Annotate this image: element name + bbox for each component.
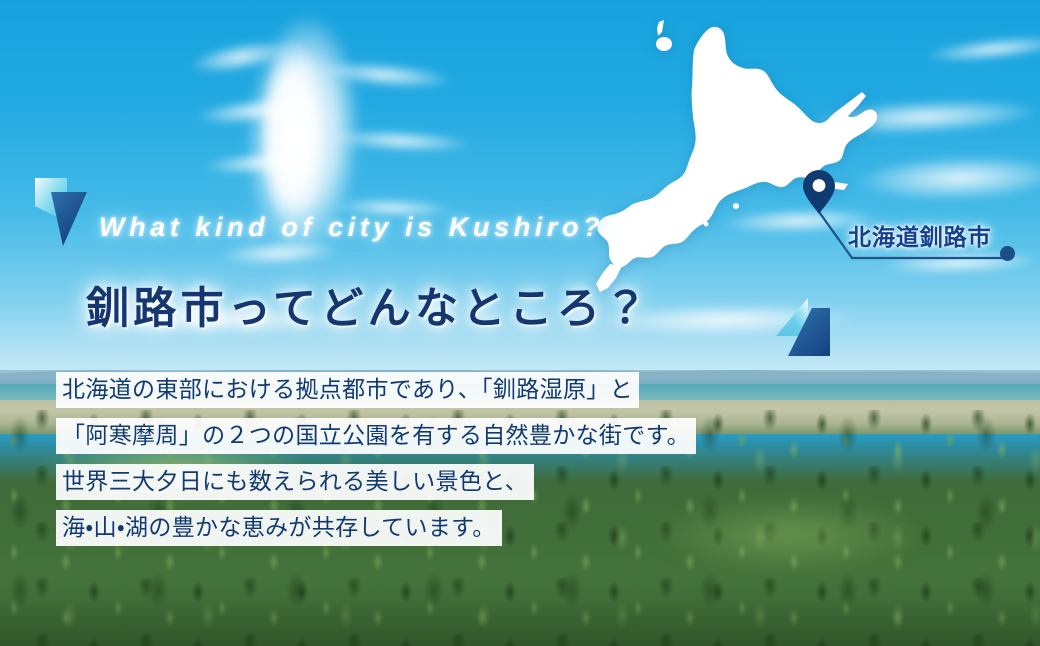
body-text-line: 世界三大夕日にも数えられる美しい景色と、 [56, 464, 534, 500]
body-text-line: 「阿寒摩周」の２つの国立公園を有する自然豊かな街です。 [56, 418, 696, 454]
body-text-line: 海・山・湖の豊かな恵みが共存しています。 [56, 510, 502, 546]
body-text-line: 北海道の東部における拠点都市であり、「釧路湿原」と [56, 372, 639, 408]
kushiro-hero-banner: 北海道釧路市 [0, 0, 1040, 646]
body-text-block: 北海道の東部における拠点都市であり、「釧路湿原」と 「阿寒摩周」の２つの国立公園… [0, 0, 1040, 646]
